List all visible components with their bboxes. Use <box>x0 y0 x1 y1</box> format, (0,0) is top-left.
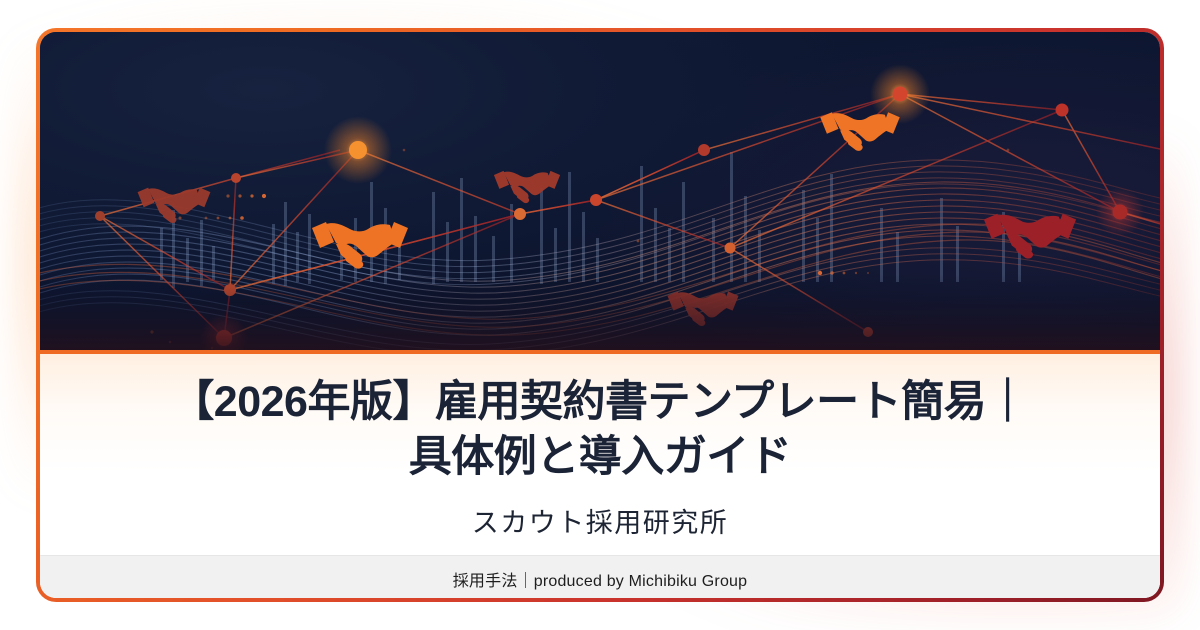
hero-graphic <box>40 32 1160 350</box>
hero-image <box>40 32 1160 354</box>
text-section: 【2026年版】雇用契約書テンプレート簡易｜ 具体例と導入ガイド スカウト採用研… <box>40 354 1160 602</box>
handshake-icon-4 <box>820 112 899 151</box>
footer-credit: 採用手法｜produced by Michibiku Group <box>453 567 748 591</box>
handshake-icon-2 <box>312 222 408 269</box>
page-title-line-1: 【2026年版】雇用契約書テンプレート簡易｜ <box>171 375 1028 430</box>
handshake-icon-6 <box>984 214 1076 259</box>
page-stage: 【2026年版】雇用契約書テンプレート簡易｜ 具体例と導入ガイド スカウト採用研… <box>0 0 1200 630</box>
handshake-icon-1 <box>138 188 211 223</box>
footer-band: 採用手法｜produced by Michibiku Group <box>40 555 1160 602</box>
handshake-icon-3 <box>494 171 560 203</box>
article-card: 【2026年版】雇用契約書テンプレート簡易｜ 具体例と導入ガイド スカウト採用研… <box>36 28 1164 602</box>
page-title-line-2: 具体例と導入ガイド <box>409 430 792 485</box>
title-block: 【2026年版】雇用契約書テンプレート簡易｜ 具体例と導入ガイド スカウト採用研… <box>40 354 1160 555</box>
hero-bottom-fade <box>40 274 1160 350</box>
site-name: スカウト採用研究所 <box>472 501 729 540</box>
